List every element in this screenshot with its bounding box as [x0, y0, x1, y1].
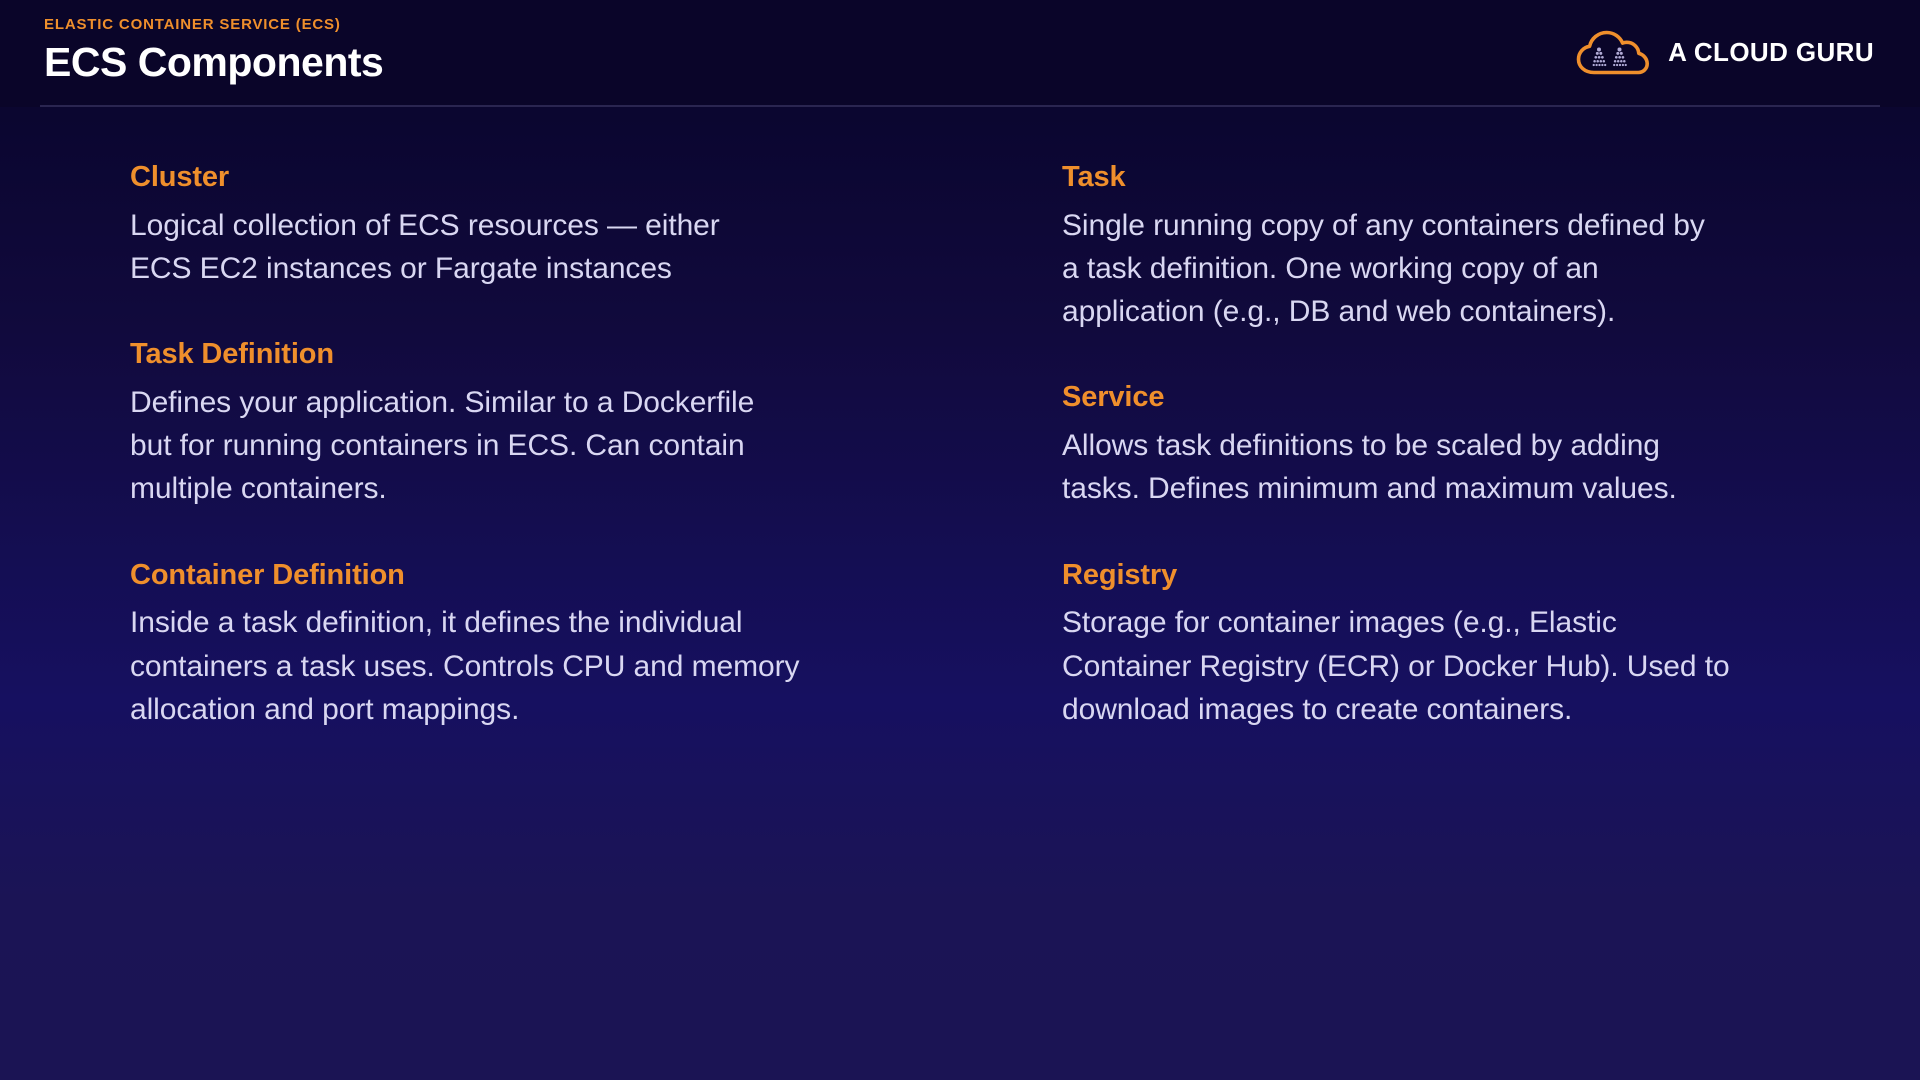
term-title-service: Service — [1062, 380, 1892, 415]
slide-body: Cluster Logical collection of ECS resour… — [0, 160, 1920, 731]
term-block-service: Service Allows task definitions to be sc… — [1062, 380, 1892, 510]
term-description-container-definition: Inside a task definition, it defines the… — [130, 601, 802, 731]
brand-logo: A CLOUD GURU — [1574, 27, 1874, 77]
term-title-registry: Registry — [1062, 558, 1892, 593]
term-title-task-definition: Task Definition — [130, 337, 960, 372]
definitions-column-left: Cluster Logical collection of ECS resour… — [130, 160, 960, 731]
term-block-task: Task Single running copy of any containe… — [1062, 160, 1892, 333]
definitions-column-right: Task Single running copy of any containe… — [1062, 160, 1892, 731]
term-description-task: Single running copy of any containers de… — [1062, 204, 1722, 334]
course-eyebrow-label: ELASTIC CONTAINER SERVICE (ECS) — [44, 17, 383, 34]
header-divider — [40, 105, 1880, 107]
term-title-task: Task — [1062, 160, 1892, 195]
term-block-task-definition: Task Definition Defines your application… — [130, 337, 960, 510]
brand-name-label: A CLOUD GURU — [1668, 37, 1874, 68]
term-title-container-definition: Container Definition — [130, 558, 960, 593]
slide-root: ELASTIC CONTAINER SERVICE (ECS) ECS Comp… — [0, 0, 1920, 1080]
term-description-cluster: Logical collection of ECS resources — ei… — [130, 204, 770, 290]
term-description-task-definition: Defines your application. Similar to a D… — [130, 381, 802, 511]
term-description-service: Allows task definitions to be scaled by … — [1062, 424, 1722, 510]
term-block-cluster: Cluster Logical collection of ECS resour… — [130, 160, 960, 290]
page-title: ECS Components — [44, 40, 383, 86]
slide-header: ELASTIC CONTAINER SERVICE (ECS) ECS Comp… — [0, 0, 1920, 107]
header-title-group: ELASTIC CONTAINER SERVICE (ECS) ECS Comp… — [44, 17, 383, 85]
term-title-cluster: Cluster — [130, 160, 960, 195]
term-description-registry: Storage for container images (e.g., Elas… — [1062, 601, 1734, 731]
term-block-registry: Registry Storage for container images (e… — [1062, 558, 1892, 731]
term-block-container-definition: Container Definition Inside a task defin… — [130, 558, 960, 731]
cloud-guru-logo-icon — [1574, 27, 1652, 77]
